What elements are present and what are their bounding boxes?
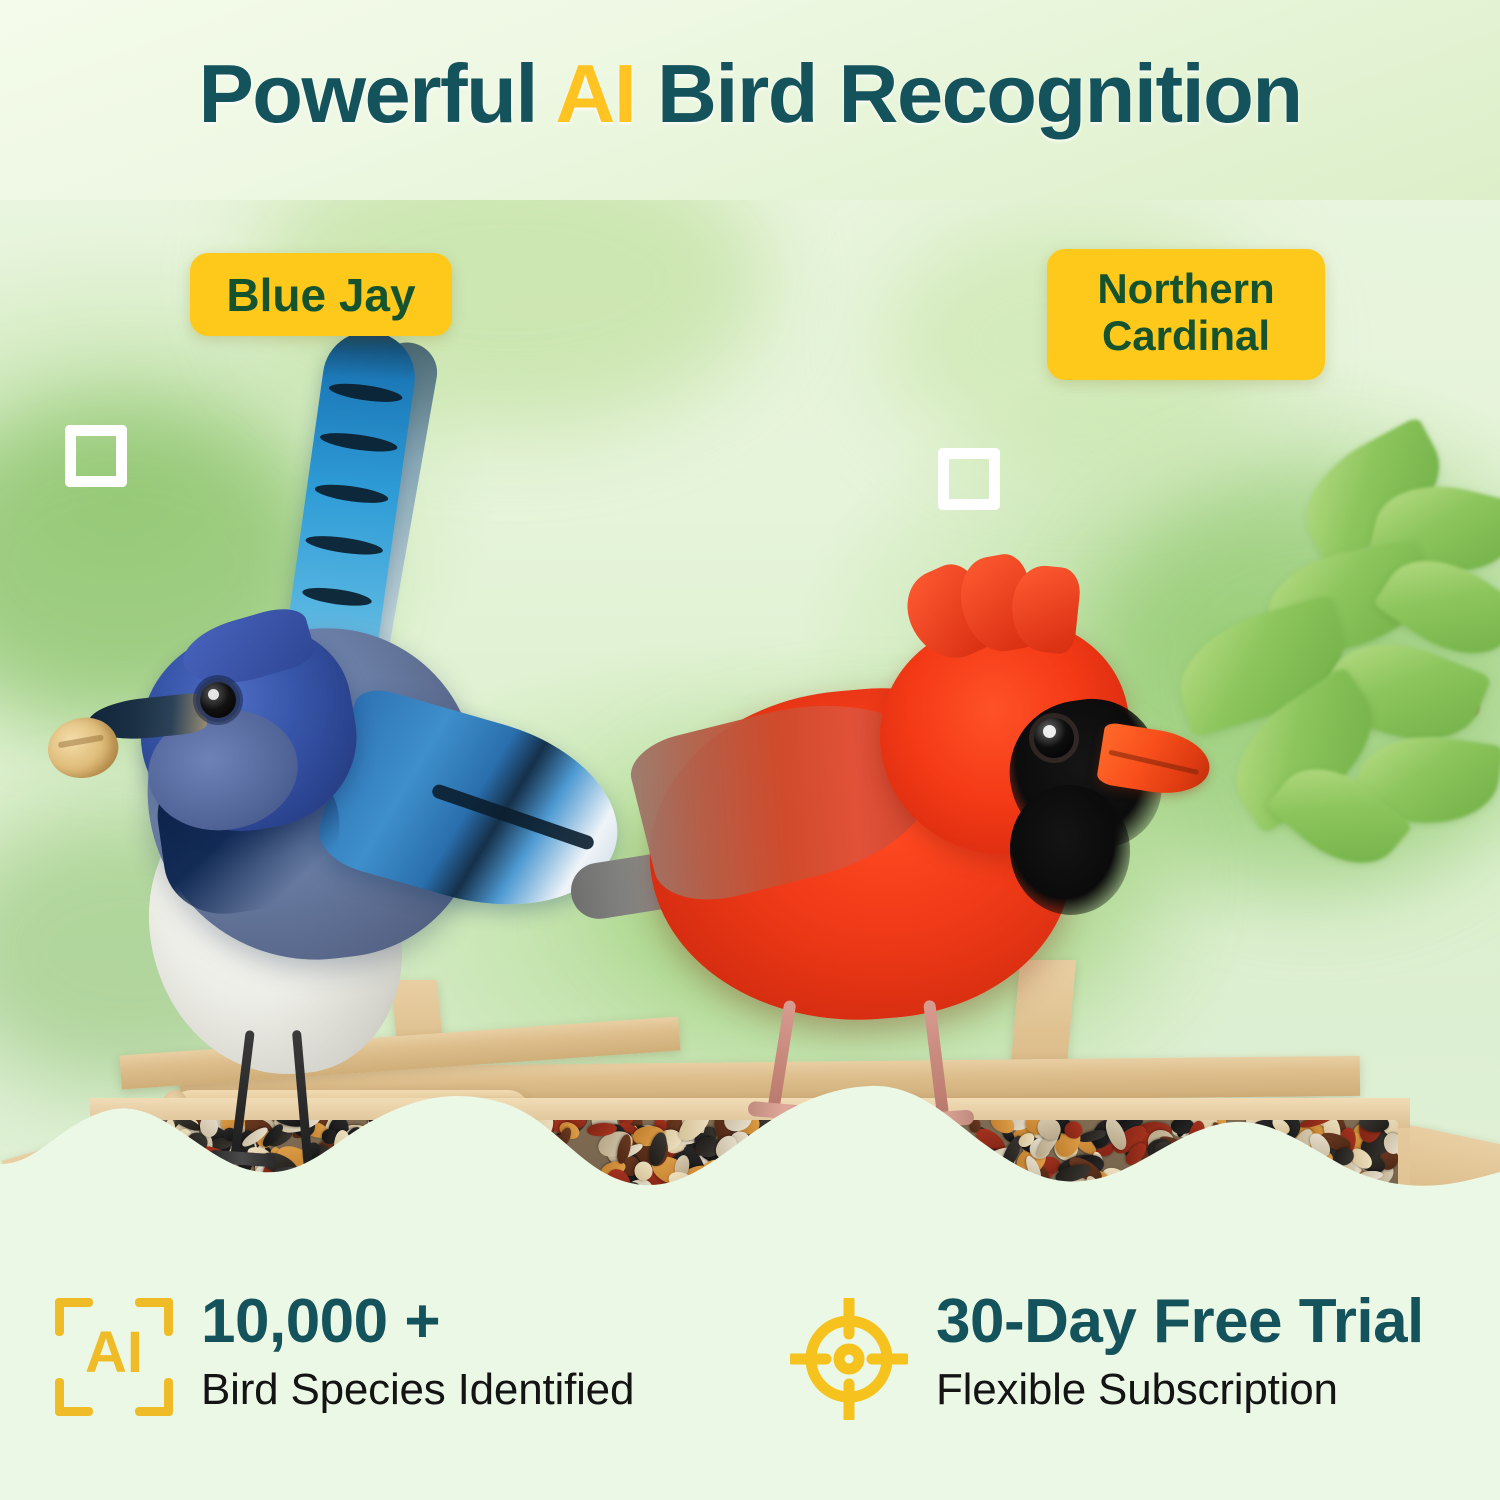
headline-part-1: Powerful: [198, 47, 555, 140]
cardinal-eye: [1034, 718, 1074, 758]
species-badge-label-line-1: Northern: [1047, 265, 1325, 312]
species-badge-blue-jay[interactable]: Blue Jay: [190, 253, 452, 336]
jay-eye: [200, 682, 236, 718]
blue-jay-scan-frame: [65, 425, 315, 670]
headline-accent-ai: AI: [555, 47, 635, 140]
feature-subtext: Flexible Subscription: [936, 1365, 1424, 1415]
wave-divider: [0, 1072, 1500, 1202]
feature-free-trial: 30-Day Free Trial Flexible Subscription: [790, 1290, 1470, 1490]
ai-scan-icon: AI: [55, 1298, 173, 1416]
species-badge-label: Blue Jay: [190, 270, 452, 322]
scan-corner-bottom-right-icon: [65, 425, 127, 487]
feature-subtext: Bird Species Identified: [201, 1365, 634, 1415]
feature-headline: 10,000 +: [201, 1290, 634, 1353]
feature-text: 30-Day Free Trial Flexible Subscription: [936, 1290, 1424, 1415]
leaf-cluster: [1180, 440, 1500, 870]
species-badge-label-line-2: Cardinal: [1047, 312, 1325, 359]
scan-corner-bottom-right-icon: [938, 448, 1000, 510]
species-badge-northern-cardinal[interactable]: Northern Cardinal: [1047, 249, 1325, 380]
promo-canvas: Cam: [0, 0, 1500, 1500]
ai-icon-label: AI: [55, 1324, 173, 1382]
headline-part-2: Bird Recognition: [635, 47, 1301, 140]
page-title: Powerful AI Bird Recognition: [0, 46, 1500, 142]
crosshair-target-icon: [790, 1298, 908, 1425]
feature-list: AI 10,000 + Bird Species Identified: [0, 1290, 1500, 1490]
feature-bird-species-identified: AI 10,000 + Bird Species Identified: [55, 1290, 755, 1490]
northern-cardinal-scan-frame: [938, 448, 1188, 688]
headline-band: Powerful AI Bird Recognition: [0, 0, 1500, 200]
feature-text: 10,000 + Bird Species Identified: [201, 1290, 634, 1415]
feature-headline: 30-Day Free Trial: [936, 1290, 1424, 1353]
